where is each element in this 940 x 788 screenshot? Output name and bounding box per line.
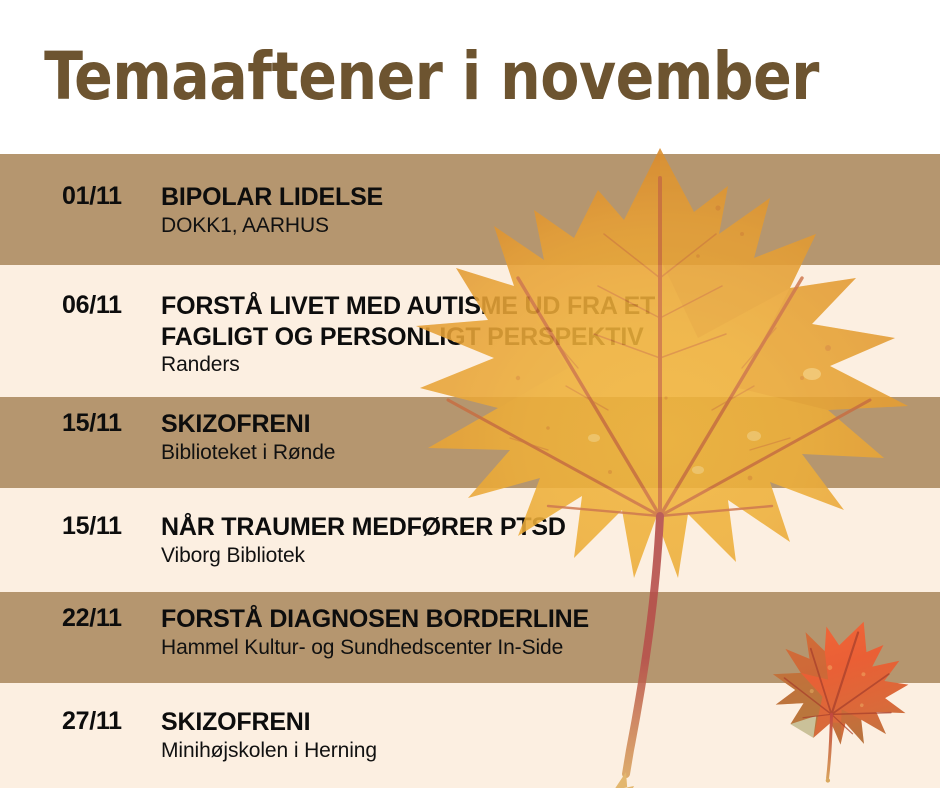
event-info: FORSTÅ LIVET MED AUTISME UD FRA ET FAGLI… [161,265,940,378]
table-row[interactable]: 22/11 FORSTÅ DIAGNOSEN BORDERLINE Hammel… [0,592,940,683]
table-row[interactable]: 01/11 BIPOLAR LIDELSE DOKK1, AARHUS [0,154,940,265]
event-info: FORSTÅ DIAGNOSEN BORDERLINE Hammel Kultu… [161,592,940,661]
event-info: SKIZOFRENI Minihøjskolen i Herning [161,683,940,764]
event-title-line1: BIPOLAR LIDELSE [161,182,930,213]
event-venue: Viborg Bibliotek [161,543,930,569]
event-date: 15/11 [0,397,161,438]
event-date: 27/11 [0,683,161,736]
event-info: SKIZOFRENI Biblioteket i Rønde [161,397,940,466]
event-date: 15/11 [0,488,161,541]
event-info: BIPOLAR LIDELSE DOKK1, AARHUS [161,154,940,239]
poster-canvas: Temaaftener i november 01/11 BIPOLAR LID… [0,0,940,788]
event-title-line2: FAGLIGT OG PERSONLIGT PERSPEKTIV [161,322,930,353]
event-venue: Randers [161,352,930,378]
page-title: Temaaftener i november [0,44,819,110]
event-date: 22/11 [0,592,161,633]
event-venue: Minihøjskolen i Herning [161,738,930,764]
poster-header: Temaaftener i november [0,0,940,154]
event-title-line1: FORSTÅ DIAGNOSEN BORDERLINE [161,604,930,635]
event-info: NÅR TRAUMER MEDFØRER PTSD Viborg Bibliot… [161,488,940,569]
table-row[interactable]: 15/11 NÅR TRAUMER MEDFØRER PTSD Viborg B… [0,488,940,592]
event-title-line1: SKIZOFRENI [161,707,930,738]
event-venue: Hammel Kultur- og Sundhedscenter In-Side [161,635,930,661]
event-date: 01/11 [0,154,161,211]
event-date: 06/11 [0,265,161,320]
table-row[interactable]: 15/11 SKIZOFRENI Biblioteket i Rønde [0,397,940,488]
table-row[interactable]: 27/11 SKIZOFRENI Minihøjskolen i Herning [0,683,940,788]
event-title-line1: NÅR TRAUMER MEDFØRER PTSD [161,512,930,543]
event-venue: DOKK1, AARHUS [161,213,930,239]
table-row[interactable]: 06/11 FORSTÅ LIVET MED AUTISME UD FRA ET… [0,265,940,397]
event-title-line1: FORSTÅ LIVET MED AUTISME UD FRA ET [161,291,930,322]
event-venue: Biblioteket i Rønde [161,440,930,466]
event-list: 01/11 BIPOLAR LIDELSE DOKK1, AARHUS 06/1… [0,154,940,788]
event-title-line1: SKIZOFRENI [161,409,930,440]
